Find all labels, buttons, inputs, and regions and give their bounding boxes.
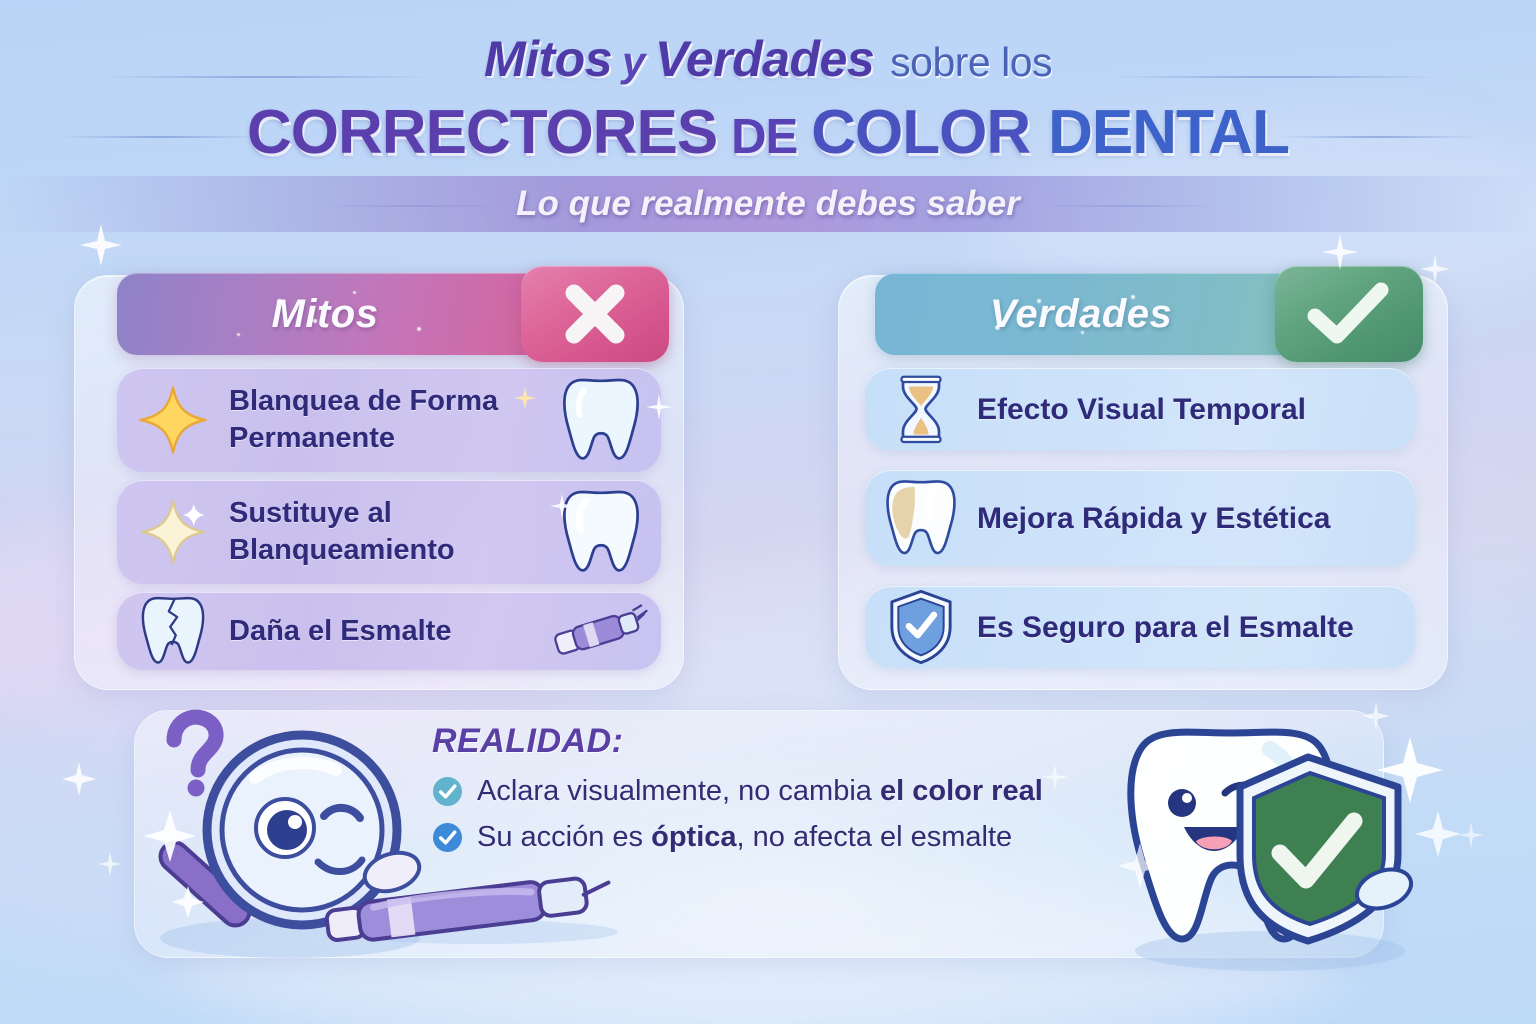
- truth-card-label: Es Seguro para el Esmalte: [977, 609, 1415, 646]
- title-word-correctores: CORRECTORES: [247, 98, 717, 167]
- myth-card[interactable]: Sustituye al Blanqueamiento: [117, 480, 661, 584]
- infographic-canvas: MitosyVerdadessobre los CORRECTORESDECOL…: [0, 0, 1536, 1024]
- page-title-line-2: CORRECTORESDECOLORDENTAL: [0, 95, 1536, 175]
- reality-point-bold: óptica: [651, 821, 736, 853]
- tooth-stained-icon: [865, 470, 977, 566]
- hourglass-icon: [865, 368, 977, 450]
- myth-card[interactable]: Daña el Esmalte: [117, 592, 661, 670]
- tooth-shiny-icon: [541, 480, 661, 584]
- truth-card[interactable]: Mejora Rápida y Estética: [865, 470, 1415, 566]
- reality-title: REALIDAD:: [432, 722, 1132, 761]
- title-separator-y: y: [612, 38, 655, 85]
- myth-card-label: Sustituye al Blanqueamiento: [229, 495, 541, 569]
- tooth-cracked-icon: [117, 592, 229, 670]
- title-word-de: DE: [717, 110, 811, 164]
- bg-sparkle: [60, 760, 98, 803]
- header-sparkle: [995, 325, 1000, 330]
- pen-applicator-icon: [541, 592, 661, 670]
- truth-card-label: Efecto Visual Temporal: [977, 391, 1415, 428]
- myths-section-header: Mitos: [117, 273, 661, 355]
- reality-point-text: Aclara visualmente, no cambia el color r…: [477, 773, 1043, 809]
- title-tail-sobre-los: sobre los: [874, 39, 1052, 85]
- reality-point-text: Su acción es óptica, no afecta el esmalt…: [477, 819, 1012, 855]
- reality-point-plain: Su acción es: [477, 821, 651, 853]
- header-sparkle: [277, 299, 282, 304]
- reality-point: Su acción es óptica, no afecta el esmalt…: [432, 819, 1132, 855]
- sparkle-cream-icon: [117, 480, 229, 584]
- title-word-color: COLOR: [811, 98, 1030, 167]
- tooth-clean-icon: [541, 368, 661, 472]
- reality-point-tail: , no afecta el esmalte: [737, 821, 1013, 853]
- header-sparkle: [417, 327, 421, 331]
- myth-card-label: Daña el Esmalte: [229, 613, 541, 650]
- header-sparkle: [1037, 299, 1041, 303]
- page-subtitle: Lo que realmente debes saber: [0, 180, 1536, 228]
- check-circle-blue-icon: [432, 822, 463, 853]
- reality-point-bold: el color real: [880, 775, 1043, 807]
- truth-card[interactable]: Es Seguro para el Esmalte: [865, 586, 1415, 668]
- truth-card-label: Mejora Rápida y Estética: [977, 500, 1415, 537]
- x-mark-badge: [521, 266, 669, 362]
- check-mark-icon: [1305, 278, 1393, 350]
- sparkle-gold-icon: [117, 368, 229, 472]
- myth-card-label: Blanquea de Forma Permanente: [229, 383, 541, 457]
- header-sparkle: [313, 319, 317, 323]
- header-sparkle: [237, 333, 240, 336]
- header-sparkle: [353, 291, 356, 294]
- reality-content: REALIDAD: Aclara visualmente, no cambia …: [432, 722, 1132, 865]
- header-sparkle: [1131, 295, 1135, 299]
- shield-check-icon: [865, 586, 977, 668]
- bg-sparkle: [96, 850, 124, 883]
- reality-point: Aclara visualmente, no cambia el color r…: [432, 773, 1132, 809]
- check-mark-badge: [1275, 266, 1423, 362]
- check-circle-teal-icon: [432, 776, 463, 807]
- x-mark-icon: [558, 277, 632, 351]
- title-word-mitos: Mitos: [484, 31, 612, 87]
- page-title-line-1: MitosyVerdadessobre los: [0, 30, 1536, 91]
- reality-point-plain: Aclara visualmente, no cambia: [477, 775, 880, 807]
- title-word-dental: DENTAL: [1030, 98, 1289, 167]
- truth-card[interactable]: Efecto Visual Temporal: [865, 368, 1415, 450]
- title-word-verdades: Verdades: [655, 31, 874, 87]
- bg-sparkle: [1456, 820, 1486, 855]
- truths-section-header: Verdades: [875, 273, 1415, 355]
- myth-card[interactable]: Blanquea de Forma Permanente: [117, 368, 661, 472]
- header-sparkle: [1081, 331, 1084, 334]
